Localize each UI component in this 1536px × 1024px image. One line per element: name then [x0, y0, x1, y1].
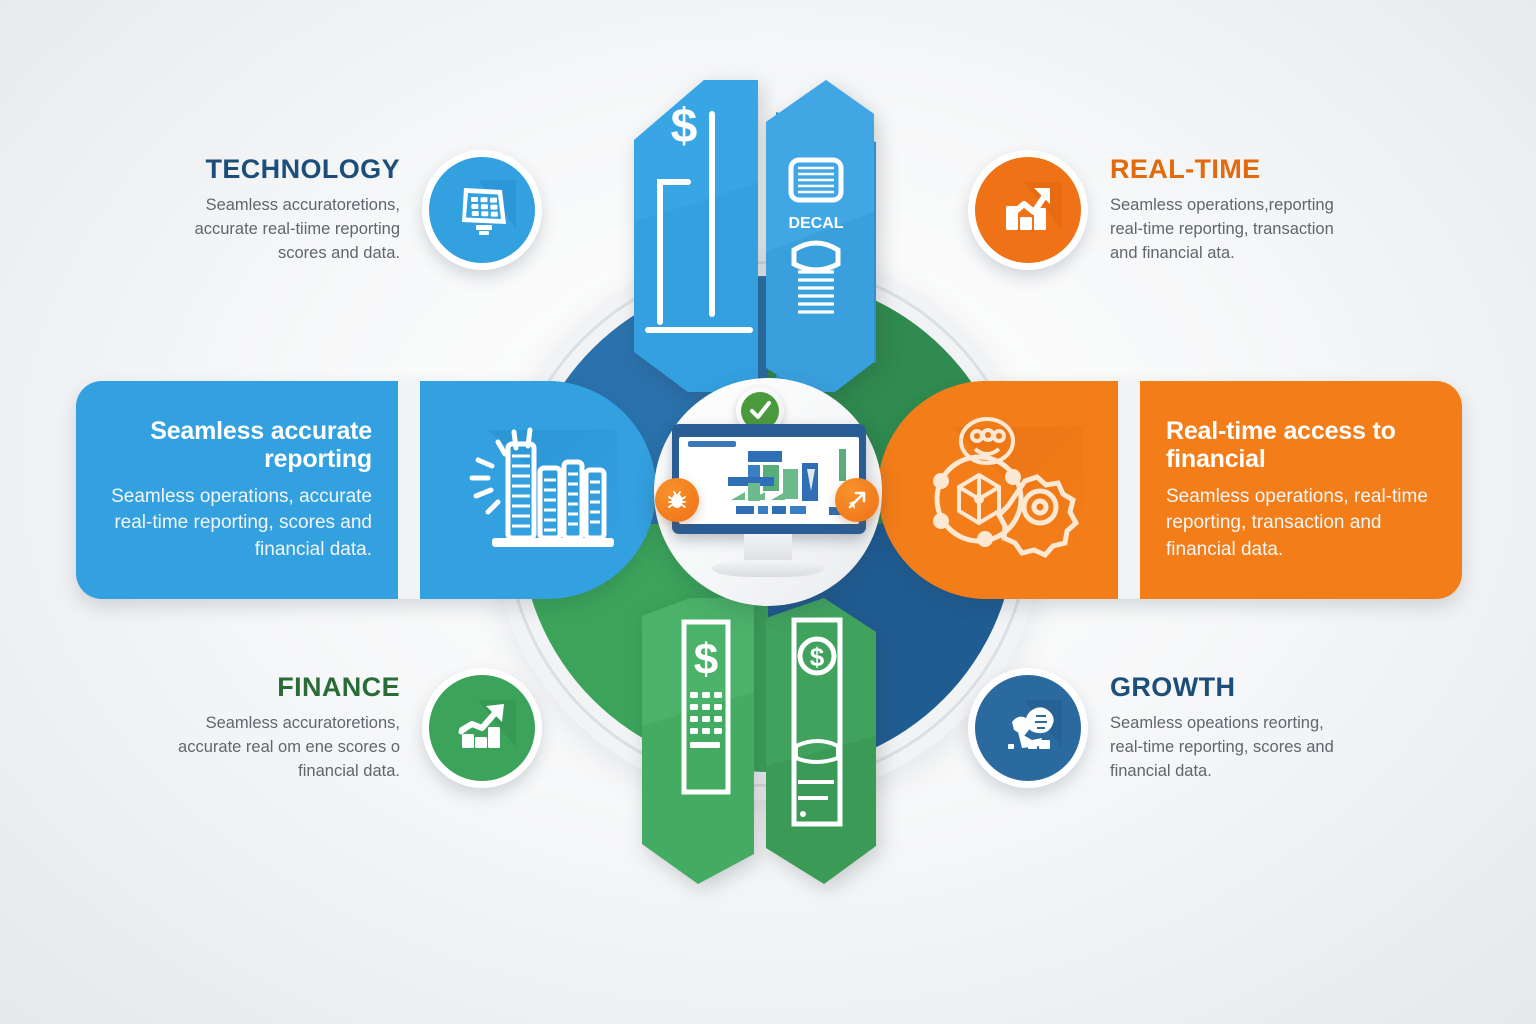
corner-real-time-text: REAL-TIME Seamless operations,reporting …	[1110, 154, 1360, 265]
corner-technology-body: Seamless accuratoretions, accurate real-…	[150, 194, 400, 265]
growth-chart-arrow-icon	[448, 694, 516, 762]
banner-right-icon-area	[878, 381, 1118, 599]
banner-right-title: Real-time access to financial	[1166, 417, 1436, 473]
check-glyph	[748, 399, 772, 423]
calculator-icon	[448, 176, 516, 244]
corner-growth-title: GROWTH	[1110, 672, 1360, 703]
corner-real-time-body: Seamless operations,reporting real-time …	[1110, 194, 1360, 265]
city-buildings-icon	[458, 420, 618, 560]
banner-right[interactable]: Real-time access to financial Seamless o…	[878, 381, 1462, 599]
banner-right-text: Real-time access to financial Seamless o…	[1140, 381, 1462, 599]
dashboard-chart-graphic	[679, 437, 859, 524]
svg-text:$: $	[694, 635, 718, 684]
monitor-topbar	[688, 441, 736, 447]
corner-growth-body: Seamless opeations reorting, real-time r…	[1110, 712, 1360, 783]
corner-real-time-title: REAL-TIME	[1110, 154, 1360, 185]
infographic-canvas: $ DECAL	[0, 0, 1536, 1024]
handshake-gear-icon	[994, 694, 1062, 762]
arrow-cursor-icon[interactable]	[835, 478, 879, 522]
banner-left-text: Seamless accurate reporting Seamless ope…	[76, 381, 398, 599]
banner-left-title: Seamless accurate reporting	[102, 417, 372, 473]
banner-left-divider	[398, 381, 420, 599]
corner-finance-title: FINANCE	[150, 672, 400, 703]
corner-technology-badge[interactable]	[422, 150, 542, 270]
corner-real-time-badge[interactable]	[968, 150, 1088, 270]
arrow-cursor-glyph	[845, 488, 869, 512]
corner-technology-title: TECHNOLOGY	[150, 154, 400, 185]
corner-real-time[interactable]: REAL-TIME Seamless operations,reporting …	[968, 150, 1360, 270]
desktop-monitor-icon	[672, 424, 866, 534]
network-cube-gear-icon	[913, 415, 1083, 565]
bottom-chevron-shape: $ $	[628, 596, 896, 886]
corner-finance-body: Seamless accuratoretions, accurate real …	[150, 712, 400, 783]
monitor-screen	[679, 437, 859, 524]
decal-label: DECAL	[788, 215, 843, 232]
svg-text:$: $	[671, 100, 698, 153]
banner-left[interactable]: Seamless accurate reporting Seamless ope…	[76, 381, 656, 599]
svg-text:$: $	[810, 642, 825, 672]
banner-left-body: Seamless operations, accurate real-time …	[102, 484, 372, 563]
bug-glyph	[665, 488, 689, 512]
top-chevron-blue: $ DECAL	[626, 62, 896, 392]
corner-finance-text: FINANCE Seamless accuratoretions, accura…	[150, 672, 400, 783]
corner-finance-badge[interactable]	[422, 668, 542, 788]
banner-right-body: Seamless operations, real-time reporting…	[1166, 484, 1436, 563]
corner-growth[interactable]: GROWTH Seamless opeations reorting, real…	[968, 668, 1360, 788]
corner-technology[interactable]: TECHNOLOGY Seamless accuratoretions, acc…	[150, 150, 542, 270]
bottom-chevron-green: $ $	[628, 596, 896, 886]
corner-technology-text: TECHNOLOGY Seamless accuratoretions, acc…	[150, 154, 400, 265]
banner-left-icon-area	[420, 381, 656, 599]
corner-growth-text: GROWTH Seamless opeations reorting, real…	[1110, 672, 1360, 783]
monitor-base	[712, 560, 824, 577]
top-chevron-shape: $ DECAL	[626, 62, 896, 392]
banner-right-divider	[1118, 381, 1140, 599]
corner-growth-badge[interactable]	[968, 668, 1088, 788]
corner-finance[interactable]: FINANCE Seamless accuratoretions, accura…	[150, 668, 542, 788]
bar-chart-arrow-icon	[994, 176, 1062, 244]
bug-gear-icon[interactable]	[655, 478, 699, 522]
